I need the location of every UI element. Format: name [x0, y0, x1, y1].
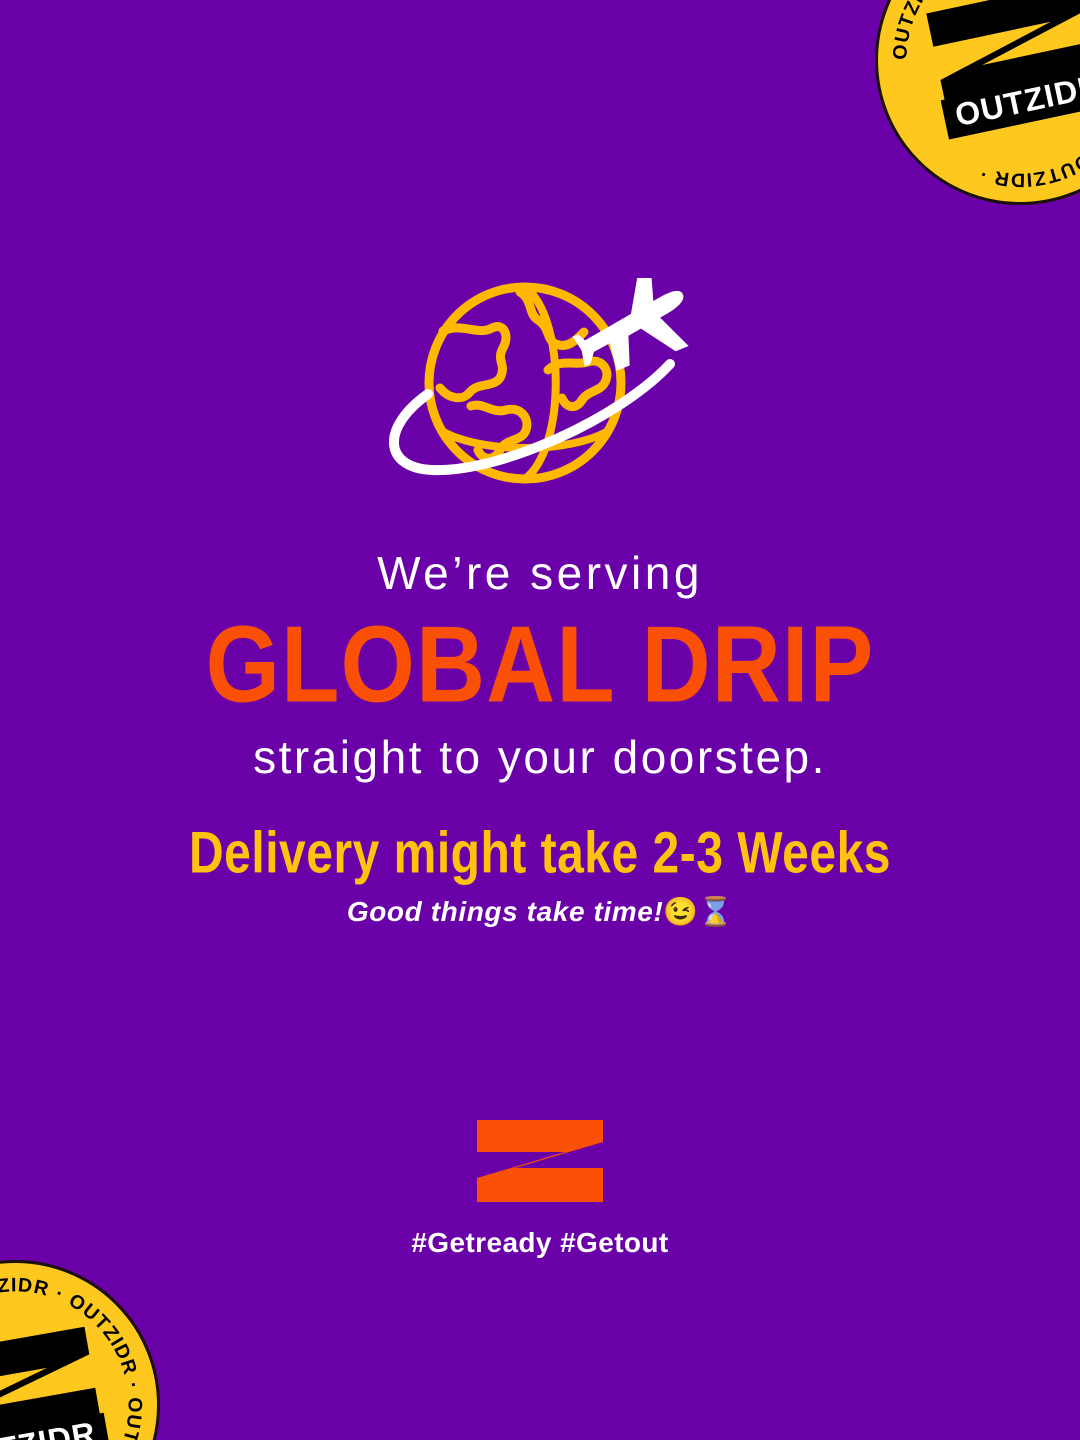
delivery-subtext: Good things take time!😉⌛: [0, 895, 1080, 928]
globe-illustration: [0, 278, 1080, 503]
main-copy-block: We’re serving GLOBAL DRIP straight to yo…: [0, 548, 1080, 783]
badge-z-wordmark-icon: OUTZIDR: [0, 1330, 115, 1440]
subline-text: straight to your doorstep.: [0, 732, 1080, 783]
poster-canvas: We’re serving GLOBAL DRIP straight to yo…: [0, 0, 1080, 1440]
badge-z-wordmark-icon: OUTZIDR: [920, 0, 1080, 135]
badge-core-top-right: OUTZIDR: [920, 0, 1080, 135]
outzidr-badge-top-right: OUTZIDR · OUTZIDR · OUTZIDR · OUTZIDR · …: [875, 0, 1080, 205]
z-logo-icon: [477, 1120, 603, 1202]
footer-block: #Getready #Getout: [0, 1120, 1080, 1259]
delivery-notice: Delivery might take 2-3 Weeks Good thing…: [0, 820, 1080, 928]
delivery-headline: Delivery might take 2-3 Weeks: [0, 820, 1080, 887]
page-title: GLOBAL DRIP: [0, 607, 1080, 724]
eyebrow-text: We’re serving: [0, 548, 1080, 599]
z-logo: [477, 1120, 603, 1202]
delivery-subtext-label: Good things take time!: [347, 896, 664, 927]
globe-airplane-icon: [370, 278, 710, 503]
outzidr-badge-bottom-left: OUTZIDR · OUTZIDR · OUTZIDR · OUTZIDR · …: [0, 1260, 160, 1440]
hashtags-text: #Getready #Getout: [0, 1227, 1080, 1259]
badge-core-bottom-left: OUTZIDR: [0, 1330, 115, 1440]
wink-hourglass-emoji: 😉⌛: [663, 896, 733, 927]
